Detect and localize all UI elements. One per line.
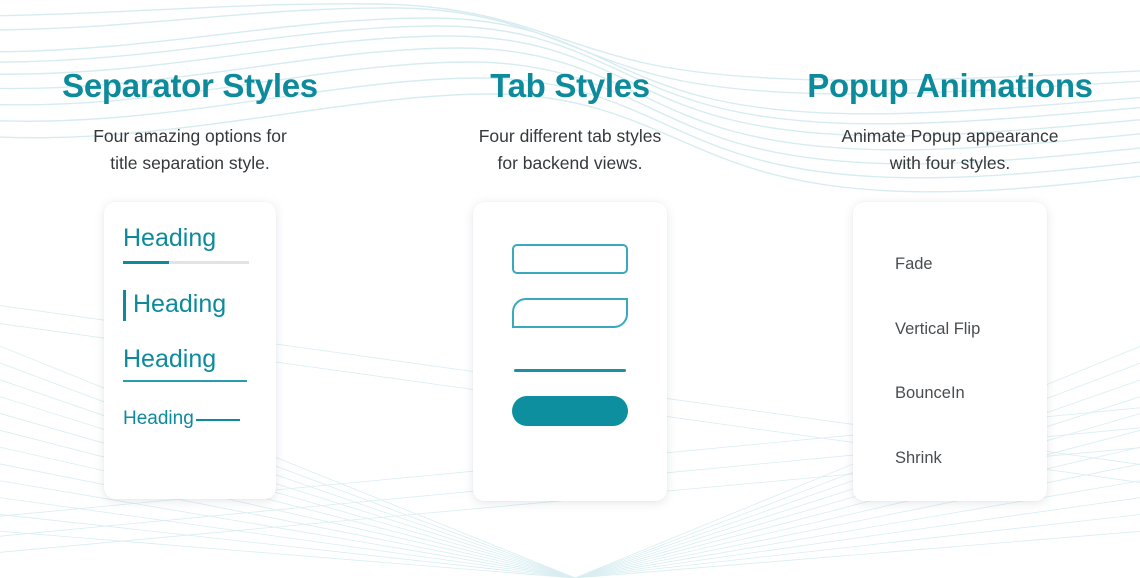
column-title-popup-animations: Popup Animations bbox=[807, 68, 1092, 104]
separator-bar-wrap: Heading bbox=[123, 290, 276, 321]
separator-style-full-underline[interactable]: Heading bbox=[104, 345, 276, 383]
separator-inline-wrap: Heading bbox=[123, 408, 276, 431]
separator-underline bbox=[123, 380, 247, 382]
separator-style-partial-underline[interactable]: Heading bbox=[104, 224, 276, 264]
separator-heading-label: Heading bbox=[133, 290, 226, 321]
column-title-separator-styles: Separator Styles bbox=[62, 68, 318, 104]
column-title-tab-styles: Tab Styles bbox=[490, 68, 650, 104]
feature-columns: Separator Styles Four amazing options fo… bbox=[0, 0, 1140, 578]
popup-animation-option-fade[interactable]: Fade bbox=[895, 255, 933, 275]
tab-underline-shape bbox=[514, 369, 626, 372]
popup-animation-option-vertical-flip[interactable]: Vertical Flip bbox=[895, 320, 980, 340]
separator-preview-card: Heading Heading Heading Heading bbox=[104, 202, 276, 499]
tab-style-rounded-rectangle[interactable] bbox=[511, 244, 629, 274]
separator-style-trailing-line[interactable]: Heading bbox=[104, 408, 276, 431]
column-description-popup-animations: Animate Popup appearance with four style… bbox=[842, 123, 1059, 176]
separator-vertical-bar bbox=[123, 290, 126, 321]
tab-diagonal-outline-shape bbox=[512, 298, 628, 328]
separator-rail bbox=[123, 261, 249, 264]
tab-style-filled-pill[interactable] bbox=[511, 396, 629, 426]
popup-animation-option-bouncein[interactable]: BounceIn bbox=[895, 384, 965, 404]
separator-trailing-line bbox=[196, 419, 240, 421]
separator-heading-label: Heading bbox=[123, 345, 276, 375]
separator-heading-label: Heading bbox=[123, 224, 276, 254]
column-description-separator-styles: Four amazing options for title separatio… bbox=[93, 123, 287, 176]
tab-style-diagonal-corner[interactable] bbox=[511, 298, 629, 328]
popup-animation-card: Fade Vertical Flip BounceIn Shrink bbox=[853, 202, 1047, 501]
popup-animation-option-shrink[interactable]: Shrink bbox=[895, 449, 942, 469]
column-tab-styles: Tab Styles Four different tab styles for… bbox=[380, 0, 760, 501]
tab-preview-card bbox=[473, 202, 667, 501]
column-description-tab-styles: Four different tab styles for backend vi… bbox=[479, 123, 662, 176]
tab-outline-shape bbox=[512, 244, 628, 274]
column-popup-animations: Popup Animations Animate Popup appearanc… bbox=[760, 0, 1140, 501]
tab-pill-shape bbox=[512, 396, 628, 426]
tab-style-underline[interactable] bbox=[511, 369, 629, 372]
column-separator-styles: Separator Styles Four amazing options fo… bbox=[0, 0, 380, 499]
separator-style-left-bar[interactable]: Heading bbox=[104, 290, 276, 321]
separator-heading-label: Heading bbox=[123, 408, 194, 431]
